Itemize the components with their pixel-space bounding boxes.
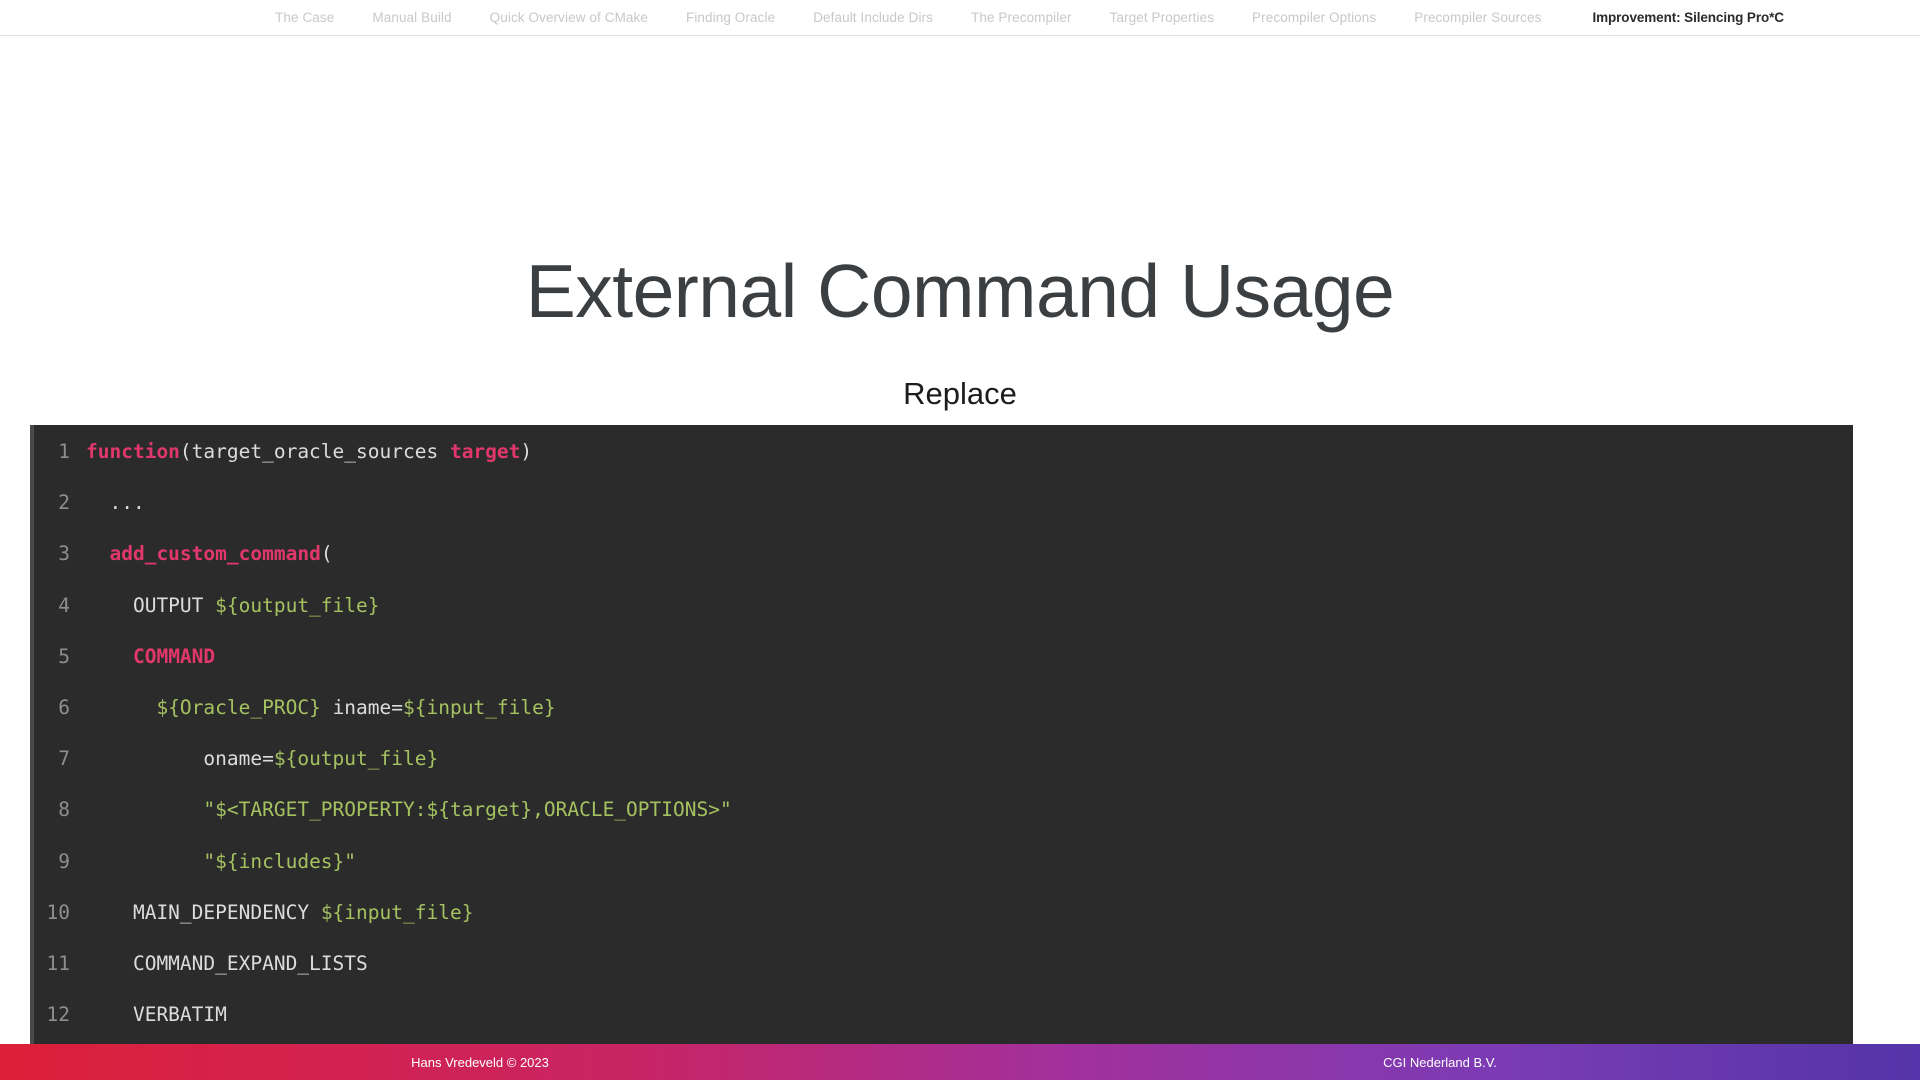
footer-company: CGI Nederland B.V. (960, 1044, 1920, 1080)
code-line: 2 ... (34, 490, 1853, 516)
code-line-number: 1 (34, 439, 86, 465)
nav-item-precompiler-sources[interactable]: Precompiler Sources (1395, 1, 1560, 35)
code-token: oname= (86, 747, 274, 770)
footer-bar: Hans Vredeveld © 2023 CGI Nederland B.V. (0, 1044, 1920, 1080)
code-line-number: 11 (34, 951, 86, 977)
code-line: 3 add_custom_command( (34, 541, 1853, 567)
code-line-number: 7 (34, 746, 86, 772)
code-line: 8 "$<TARGET_PROPERTY:${target},ORACLE_OP… (34, 797, 1853, 823)
nav-item-precompiler-options[interactable]: Precompiler Options (1233, 1, 1395, 35)
nav-item-quick-overview-of-cmake[interactable]: Quick Overview of CMake (471, 1, 667, 35)
code-line-number: 10 (34, 900, 86, 926)
code-line-number: 4 (34, 593, 86, 619)
code-line: 6 ${Oracle_PROC} iname=${input_file} (34, 695, 1853, 721)
code-token (86, 645, 133, 668)
code-line-number: 6 (34, 695, 86, 721)
nav-item-improvement-silencing-pro-c[interactable]: Improvement: Silencing Pro*C (1560, 1, 1784, 35)
code-token: ${input_file} (403, 696, 556, 719)
nav-item-default-include-dirs[interactable]: Default Include Dirs (794, 1, 952, 35)
code-token (86, 542, 109, 565)
code-token: COMMAND_EXPAND_LISTS (86, 952, 368, 975)
code-token: (target_oracle_sources (180, 440, 450, 463)
code-token: iname= (321, 696, 403, 719)
code-token: OUTPUT (86, 594, 215, 617)
code-line: 10 MAIN_DEPENDENCY ${input_file} (34, 900, 1853, 926)
code-token: ) (520, 440, 532, 463)
code-token (86, 798, 203, 821)
code-line-number: 3 (34, 541, 86, 567)
code-line: 9 "${includes}" (34, 849, 1853, 875)
code-block: 1function(target_oracle_sources target) … (30, 425, 1853, 1080)
slide-content: External Command Usage Replace 1function… (0, 36, 1920, 1044)
code-line: 12 VERBATIM (34, 1002, 1853, 1028)
page-title: External Command Usage (0, 252, 1920, 331)
nav-item-manual-build[interactable]: Manual Build (353, 1, 470, 35)
code-line: 5 COMMAND (34, 644, 1853, 670)
code-token: ... (86, 491, 145, 514)
code-token: "${includes}" (203, 850, 356, 873)
code-token: MAIN_DEPENDENCY (86, 901, 321, 924)
nav-item-list: The CaseManual BuildQuick Overview of CM… (136, 1, 1784, 35)
code-token (86, 850, 203, 873)
nav-item-the-precompiler[interactable]: The Precompiler (952, 1, 1091, 35)
code-line: 7 oname=${output_file} (34, 746, 1853, 772)
nav-item-target-properties[interactable]: Target Properties (1091, 1, 1234, 35)
code-token: ${output_file} (215, 594, 379, 617)
code-token: COMMAND (133, 645, 215, 668)
code-token: VERBATIM (86, 1003, 227, 1026)
code-listing: 1function(target_oracle_sources target) … (34, 439, 1853, 1080)
code-line: 4 OUTPUT ${output_file} (34, 593, 1853, 619)
code-line-number: 12 (34, 1002, 86, 1028)
code-token (86, 696, 156, 719)
nav-item-finding-oracle[interactable]: Finding Oracle (667, 1, 794, 35)
code-token: ${input_file} (321, 901, 474, 924)
code-token: ( (321, 542, 333, 565)
code-line: 1function(target_oracle_sources target) (34, 439, 1853, 465)
code-token: ${output_file} (274, 747, 438, 770)
code-line: 11 COMMAND_EXPAND_LISTS (34, 951, 1853, 977)
code-token: add_custom_command (109, 542, 320, 565)
code-token: target (450, 440, 520, 463)
code-token: ${Oracle_PROC} (156, 696, 320, 719)
code-line-number: 9 (34, 849, 86, 875)
nav-item-the-case[interactable]: The Case (256, 1, 353, 35)
top-navigation-bar: The CaseManual BuildQuick Overview of CM… (0, 0, 1920, 36)
code-token: function (86, 440, 180, 463)
code-line-number: 8 (34, 797, 86, 823)
code-token: "$<TARGET_PROPERTY:${target},ORACLE_OPTI… (203, 798, 731, 821)
page-subtitle: Replace (0, 376, 1920, 412)
footer-copyright: Hans Vredeveld © 2023 (0, 1044, 960, 1080)
code-line-number: 2 (34, 490, 86, 516)
code-line-number: 5 (34, 644, 86, 670)
